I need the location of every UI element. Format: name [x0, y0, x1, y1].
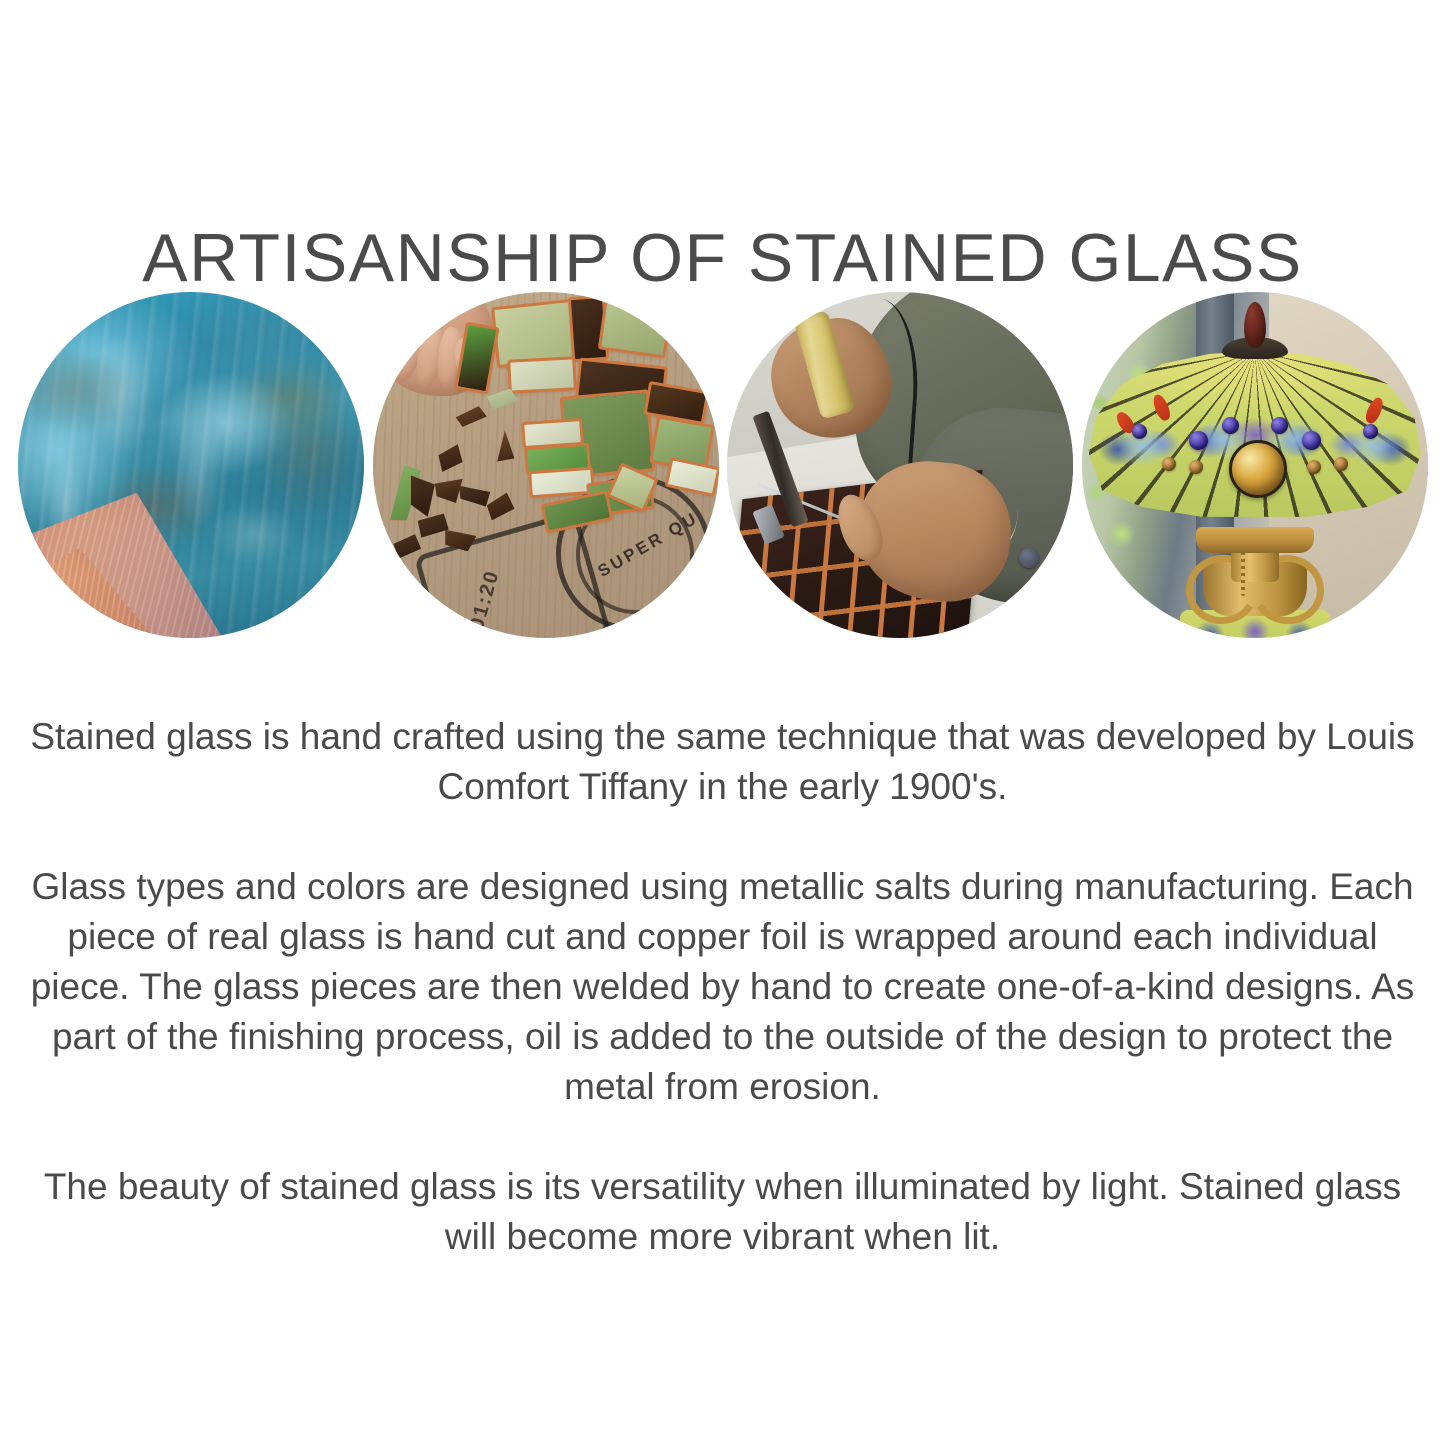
page-title: ARTISANSHIP OF STAINED GLASS [0, 224, 1445, 292]
sleeve-cuff-button [1019, 548, 1039, 568]
foiled-glass-piece [528, 446, 588, 471]
description-text: Stained glass is hand crafted using the … [22, 712, 1423, 1262]
purple-jewel [1302, 431, 1321, 450]
paragraph-1: Stained glass is hand crafted using the … [22, 712, 1423, 812]
purple-jewel [1132, 424, 1147, 439]
foiled-glass-piece [495, 302, 576, 365]
gallery-image-copper-foiled-glass-pieces: 1001:20 SUPER QU TY [373, 292, 719, 638]
foiled-glass-piece [510, 360, 574, 391]
gallery-image-soldering-stained-glass [727, 292, 1073, 638]
tiffany-lamp-shade [1089, 351, 1421, 517]
foiled-glass-piece [531, 470, 591, 495]
amber-jewel [1189, 460, 1203, 474]
paragraph-3: The beauty of stained glass is its versa… [22, 1162, 1423, 1262]
amber-jewel [1334, 457, 1348, 471]
gallery-image-tiffany-stained-glass-lamp [1082, 292, 1428, 638]
purple-jewel [1222, 417, 1239, 434]
lamp-finial [1244, 302, 1266, 348]
amber-jewel [1162, 457, 1176, 471]
lamp-brass-cap [1196, 527, 1314, 553]
stained-glass-infographic: ARTISANSHIP OF STAINED GLASS 1001:20 SUP… [0, 0, 1445, 1445]
foiled-glass-piece [571, 298, 606, 359]
foiled-glass-piece [602, 302, 670, 355]
gallery-image-blue-marbled-glass-sheet [18, 292, 364, 638]
image-gallery: 1001:20 SUPER QU TY [18, 292, 1428, 648]
paragraph-2: Glass types and colors are designed usin… [22, 862, 1423, 1112]
purple-jewel [1189, 431, 1208, 450]
purple-jewel [1363, 424, 1378, 439]
